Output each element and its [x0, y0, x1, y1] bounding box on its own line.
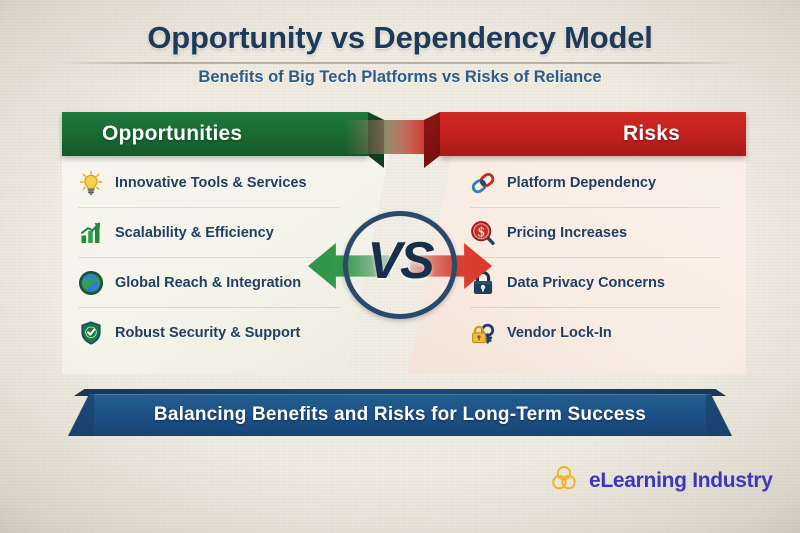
list-item: Data Privacy Concerns — [470, 258, 720, 308]
banner-text: Balancing Benefits and Risks for Long-Te… — [154, 404, 646, 426]
lightbulb-icon — [78, 170, 104, 196]
shield-check-icon — [78, 320, 104, 346]
list-item-label: Global Reach & Integration — [115, 275, 301, 291]
list-item: Global Reach & Integration — [78, 258, 340, 308]
trefoil-rings-icon — [548, 462, 580, 499]
page-title: Opportunity vs Dependency Model — [0, 20, 800, 56]
page-subtitle: Benefits of Big Tech Platforms vs Risks … — [0, 68, 800, 87]
summary-banner: Balancing Benefits and Risks for Long-Te… — [68, 394, 732, 436]
opportunities-ribbon: Opportunities — [62, 112, 368, 156]
ribbon-body-right: Risks — [440, 112, 746, 156]
list-item: Innovative Tools & Services — [78, 158, 340, 208]
list-item-label: Data Privacy Concerns — [507, 275, 665, 291]
globe-icon — [78, 270, 104, 296]
opportunities-list: Innovative Tools & Services Scalability … — [78, 158, 340, 358]
risks-ribbon: Risks — [440, 112, 746, 156]
list-item: Vendor Lock-In — [470, 308, 720, 358]
list-item-label: Scalability & Efficiency — [115, 225, 274, 241]
opportunities-heading: Opportunities — [102, 122, 242, 146]
list-item: Scalability & Efficiency — [78, 208, 340, 258]
list-item-label: Pricing Increases — [507, 225, 627, 241]
list-item: Platform Dependency — [470, 158, 720, 208]
chain-link-icon — [470, 170, 496, 196]
bar-chart-growth-icon — [78, 220, 104, 246]
list-item-label: Platform Dependency — [507, 175, 656, 191]
list-item: $ Pricing Increases — [470, 208, 720, 258]
list-item-label: Innovative Tools & Services — [115, 175, 307, 191]
list-item: Robust Security & Support — [78, 308, 340, 358]
risks-heading: Risks — [623, 122, 680, 146]
ribbon-fold-right — [424, 112, 440, 168]
brand-logo[interactable]: eLearning Industry — [548, 462, 773, 499]
brand-name: eLearning Industry — [589, 469, 773, 493]
risks-list: Platform Dependency $ Pricing Increases — [470, 158, 732, 358]
list-item-label: Vendor Lock-In — [507, 325, 612, 341]
versus-label: VS — [318, 231, 482, 291]
versus-badge: VS — [318, 205, 482, 325]
list-item-label: Robust Security & Support — [115, 325, 300, 341]
infographic-canvas: Opportunity vs Dependency Model Benefits… — [0, 0, 800, 533]
title-divider — [58, 62, 742, 64]
ribbon-body-left: Opportunities — [62, 112, 368, 156]
ribbon-tail-right — [344, 120, 424, 154]
